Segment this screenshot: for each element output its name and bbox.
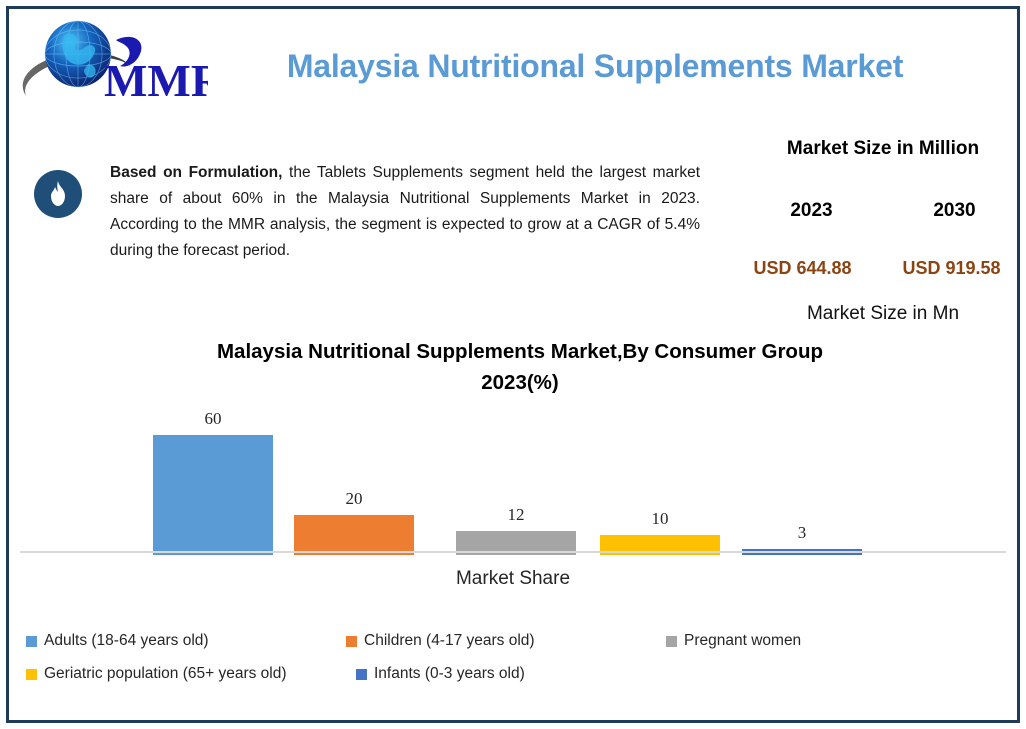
legend-label: Adults (18-64 years old) — [44, 632, 209, 650]
chart-title: Malaysia Nutritional Supplements Market,… — [120, 336, 920, 398]
legend-item[interactable]: Pregnant women — [666, 632, 801, 650]
year-start: 2023 — [790, 200, 832, 222]
page-title: Malaysia Nutritional Supplements Market — [215, 48, 975, 85]
chart-title-line2: 2023(%) — [120, 367, 920, 398]
legend-swatch — [26, 636, 37, 647]
legend-label: Children (4-17 years old) — [364, 632, 535, 650]
summary-paragraph: Based on Formulation, the Tablets Supple… — [110, 160, 700, 264]
legend-item[interactable]: Geriatric population (65+ years old) — [26, 665, 287, 683]
bar-chart-plot: 602012103 — [20, 415, 1006, 555]
summary-lead: Based on Formulation, — [110, 164, 282, 181]
bar-value-label-3: 12 — [456, 505, 576, 525]
bar-value-label-5: 3 — [742, 523, 862, 543]
legend-label: Pregnant women — [684, 632, 801, 650]
legend-item[interactable]: Adults (18-64 years old) — [26, 632, 209, 650]
legend-swatch — [666, 636, 677, 647]
bar-value-label-4: 10 — [600, 509, 720, 529]
year-end: 2030 — [933, 200, 975, 222]
x-axis-label: Market Share — [0, 568, 1026, 590]
legend-label: Infants (0-3 years old) — [374, 665, 525, 683]
legend-swatch — [356, 669, 367, 680]
logo-wordmark: MMR — [104, 55, 208, 106]
market-size-values: USD 644.88 USD 919.58 — [728, 258, 1026, 279]
flame-icon — [34, 170, 82, 218]
legend-label: Geriatric population (65+ years old) — [44, 665, 287, 683]
bar-2 — [294, 515, 414, 555]
market-size-subtitle: Market Size in Mn — [740, 303, 1026, 325]
legend-item[interactable]: Children (4-17 years old) — [346, 632, 535, 650]
legend-swatch — [26, 669, 37, 680]
legend-swatch — [346, 636, 357, 647]
bar-value-label-1: 60 — [153, 409, 273, 429]
mmr-logo: MMR — [18, 14, 208, 108]
value-start: USD 644.88 — [753, 258, 851, 279]
market-size-title: Market Size in Million — [740, 138, 1026, 160]
bar-1 — [153, 435, 273, 555]
chart-title-line1: Malaysia Nutritional Supplements Market,… — [120, 336, 920, 367]
market-size-years: 2023 2030 — [740, 200, 1026, 222]
legend-item[interactable]: Infants (0-3 years old) — [356, 665, 525, 683]
chart-baseline — [20, 551, 1006, 553]
bar-value-label-2: 20 — [294, 489, 414, 509]
chart-legend: Adults (18-64 years old)Children (4-17 y… — [26, 626, 986, 696]
infographic-page: MMR Malaysia Nutritional Supplements Mar… — [0, 0, 1026, 729]
value-end: USD 919.58 — [902, 258, 1000, 279]
